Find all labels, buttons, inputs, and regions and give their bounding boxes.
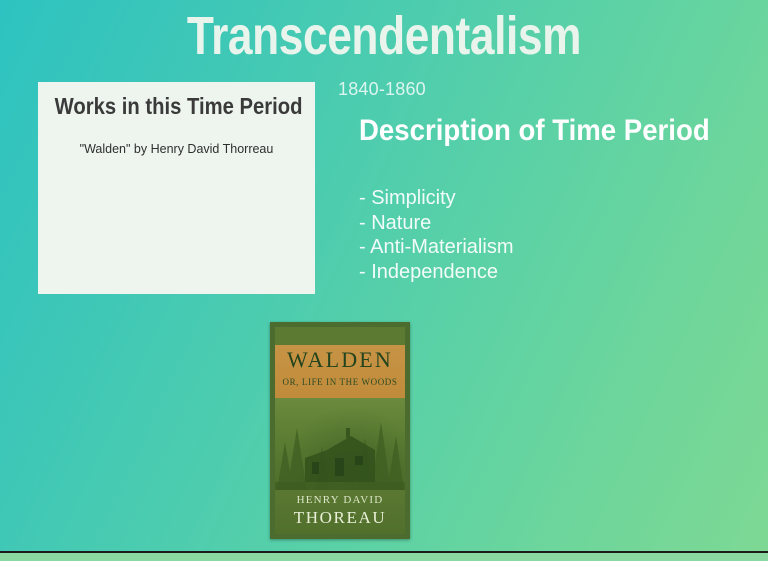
list-item: "Walden" by Henry David Thorreau xyxy=(38,140,315,158)
walden-book-cover-image: WALDEN OR, LIFE IN THE WOODS xyxy=(270,322,410,539)
description-heading: Description of Time Period xyxy=(359,114,710,148)
list-item: - Independence xyxy=(359,260,513,285)
description-list: - Simplicity - Nature - Anti-Materialism… xyxy=(359,186,513,284)
book-title: WALDEN xyxy=(275,347,405,373)
book-title-band: WALDEN OR, LIFE IN THE WOODS xyxy=(275,345,405,398)
book-author-last-name: THOREAU xyxy=(275,507,405,528)
book-subtitle: OR, LIFE IN THE WOODS xyxy=(275,376,405,388)
list-item: - Nature xyxy=(359,211,513,236)
list-item: - Anti-Materialism xyxy=(359,235,513,260)
page-title: Transcendentalism xyxy=(69,6,699,66)
slide-footer-strip xyxy=(0,553,768,561)
works-card: Works in this Time Period "Walden" by He… xyxy=(38,82,315,294)
slide-subtitle-date-range: 1840-1860 xyxy=(338,78,426,100)
book-cover-inner: WALDEN OR, LIFE IN THE WOODS xyxy=(275,327,405,534)
book-author-first-name: HENRY DAVID xyxy=(275,493,405,507)
works-list: "Walden" by Henry David Thorreau xyxy=(38,140,315,158)
cabin-forest-illustration xyxy=(275,398,405,490)
cabin-illustration-svg xyxy=(275,398,405,490)
list-item: - Simplicity xyxy=(359,186,513,211)
works-card-heading: Works in this Time Period xyxy=(55,92,299,120)
book-author-block: HENRY DAVID THOREAU xyxy=(275,490,405,534)
slide-canvas: Transcendentalism 1840-1860 Works in thi… xyxy=(0,0,768,561)
